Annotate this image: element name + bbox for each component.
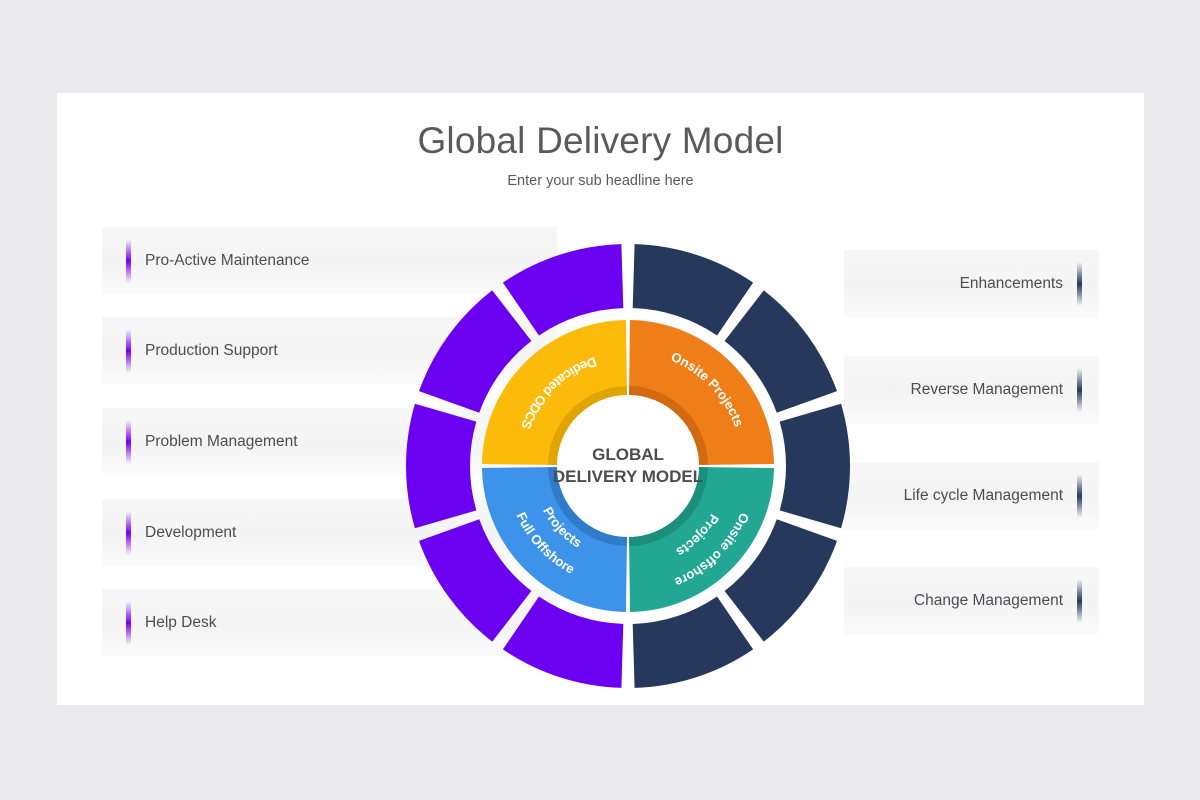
global-delivery-model-donut-chart: Dedicated ODCSOnsite ProjectsOnsite offs… [378,216,878,716]
list-item-label: Development [145,524,236,542]
accent-bar-icon [126,420,131,464]
center-label-line2: DELIVERY MODEL [553,467,703,486]
accent-bar-icon [126,239,131,283]
list-item-label: Change Management [914,592,1063,610]
accent-bar-icon [1077,579,1082,623]
list-item-label: Enhancements [960,275,1063,293]
accent-bar-icon [1077,262,1082,306]
list-item-label: Pro-Active Maintenance [145,252,310,270]
page-subtitle: Enter your sub headline here [57,173,1144,189]
outer-ring-segment[interactable] [406,404,476,529]
donut-hub [557,395,699,537]
list-item-right-3[interactable]: Life cycle Management [844,462,1099,530]
outer-ring-segment[interactable] [633,244,753,335]
outer-ring-segment[interactable] [503,597,623,688]
outer-ring-segment[interactable] [633,597,753,688]
accent-bar-icon [126,511,131,555]
accent-bar-icon [1077,368,1082,412]
center-label-line1: GLOBAL [592,445,664,464]
list-item-label: Problem Management [145,433,298,451]
list-item-right-4[interactable]: Change Management [844,567,1099,635]
slide-card: Global Delivery Model Enter your sub hea… [57,93,1144,705]
list-item-right-1[interactable]: Enhancements [844,250,1099,318]
list-item-label: Help Desk [145,614,217,632]
page-title: Global Delivery Model [57,120,1144,162]
accent-bar-icon [1077,474,1082,518]
list-item-label: Reverse Management [911,381,1064,399]
outer-ring-segment[interactable] [503,244,623,335]
list-item-label: Production Support [145,342,278,360]
list-item-right-2[interactable]: Reverse Management [844,356,1099,424]
donut-svg: Dedicated ODCSOnsite ProjectsOnsite offs… [378,216,878,716]
list-item-label: Life cycle Management [904,487,1063,505]
outer-ring-segment[interactable] [780,404,850,529]
accent-bar-icon [126,329,131,373]
accent-bar-icon [126,601,131,645]
